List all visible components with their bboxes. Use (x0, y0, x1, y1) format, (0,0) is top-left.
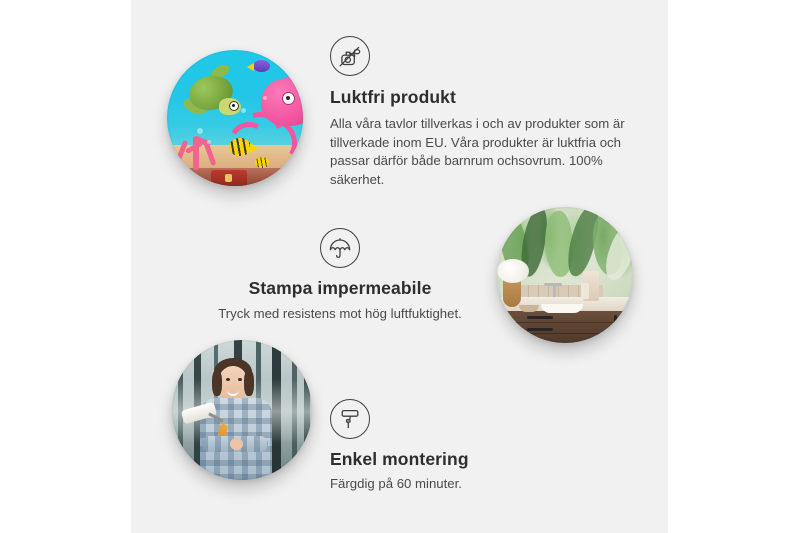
octopus-eye (282, 92, 295, 105)
turtle-eye (229, 101, 239, 111)
feature-block-mounting: Enkel montering Färgdig på 60 minuter. (330, 399, 580, 494)
woman-hair (212, 370, 222, 396)
tropical-wallpaper (497, 207, 633, 299)
promo-graphic: Luktfri produkt Alla våra tavlor tillver… (0, 0, 800, 533)
paint-roller-grip (216, 423, 229, 444)
plaid-shirt (200, 398, 272, 480)
paint-roller-pad (181, 402, 218, 425)
woman-hair (214, 358, 252, 386)
feature-block-waterproof: Stampa impermeabile Tryck med resistens … (205, 228, 475, 324)
feature-image-bathroom-tropical-wallpaper (497, 207, 633, 343)
woman-eye (238, 378, 242, 381)
woman-hair (244, 370, 254, 396)
yellow-fish (229, 138, 251, 156)
feature-title: Stampa impermeabile (205, 278, 475, 299)
feature-description: Tryck med resistens mot hög luftfuktighe… (205, 305, 475, 324)
flowers (497, 259, 529, 283)
faucet (553, 283, 556, 297)
forest-wallpaper (172, 340, 312, 480)
decor-bowl (519, 305, 539, 312)
paint-roller-icon (330, 399, 370, 439)
feature-image-underwater-kids-scene (167, 50, 303, 186)
octopus-head (261, 78, 303, 126)
tile-backsplash (519, 285, 603, 297)
bubble (263, 96, 267, 100)
turtle-shell (186, 72, 236, 114)
umbrella-icon (320, 228, 360, 268)
turtle-flipper (181, 96, 208, 117)
feature-title: Luktfri produkt (330, 87, 630, 108)
vase (503, 275, 521, 307)
turtle-flipper (210, 62, 232, 81)
woman-eye (226, 378, 230, 381)
feature-image-woman-with-paint-roller-forest (172, 340, 312, 480)
purple-fish (253, 60, 270, 72)
woman-hand (230, 438, 243, 450)
bubble (207, 140, 211, 144)
octopus-tentacle (229, 104, 290, 165)
sink (541, 304, 583, 313)
vanity-cabinet (497, 311, 633, 343)
towel (583, 271, 599, 301)
woman-smile (227, 388, 239, 396)
ocean-water (167, 50, 303, 151)
feature-title: Enkel montering (330, 449, 580, 470)
paint-roller-stem (208, 412, 224, 422)
octopus-tentacle (225, 118, 274, 167)
feature-block-odourless: Luktfri produkt Alla våra tavlor tillver… (330, 36, 630, 190)
no-fragrance-icon (330, 36, 370, 76)
small-fish (255, 157, 269, 168)
feature-description: Alla våra tavlor tillverkas i och av pro… (330, 115, 630, 190)
inner-shirt (224, 398, 244, 432)
bubble (241, 108, 246, 113)
coral (175, 128, 223, 170)
soap-dispenser (581, 283, 589, 299)
feature-description: Färgdig på 60 minuter. (330, 475, 580, 494)
crossed-arms (202, 436, 268, 452)
treasure-chest (211, 170, 247, 186)
bubble (197, 128, 203, 134)
turtle-head (219, 98, 241, 115)
countertop (497, 297, 633, 313)
woman-face (218, 366, 248, 402)
